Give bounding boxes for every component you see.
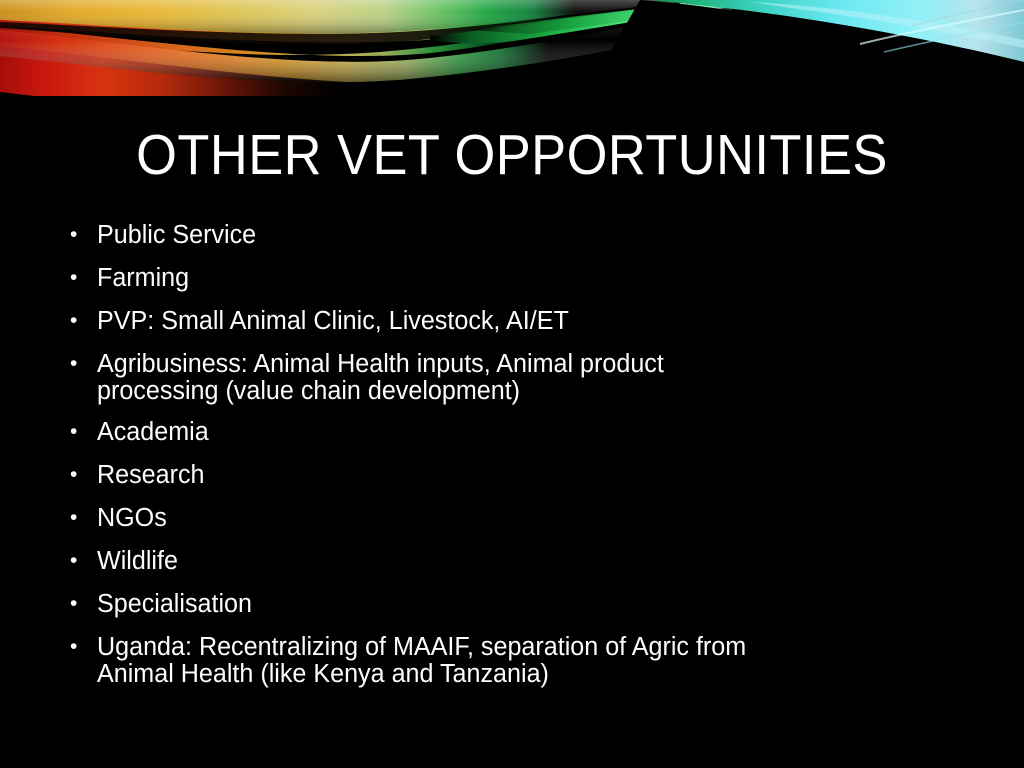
list-item-text: Wildlife	[97, 548, 953, 575]
list-item: • Public Service	[66, 222, 966, 249]
bullet-glyph-icon: •	[66, 591, 97, 617]
slide-bullet-list: • Public Service • Farming • PVP: Small …	[66, 222, 966, 702]
bullet-glyph-icon: •	[66, 419, 97, 445]
list-item: • NGOs	[66, 505, 966, 532]
list-item-text: NGOs	[97, 505, 953, 532]
bullet-glyph-icon: •	[66, 351, 97, 377]
list-item-text: Academia	[97, 419, 953, 446]
list-item: • Academia	[66, 419, 966, 446]
list-item-text: Farming	[97, 265, 953, 292]
list-item-text: Public Service	[97, 222, 953, 249]
list-item-text: PVP: Small Animal Clinic, Livestock, AI/…	[97, 308, 953, 335]
list-item: • Farming	[66, 265, 966, 292]
list-item-text: Research	[97, 462, 953, 489]
list-item: • Agribusiness: Animal Health inputs, An…	[66, 351, 966, 404]
presentation-slide: OTHER VET OPPORTUNITIES • Public Service…	[0, 0, 1024, 768]
list-item: • Wildlife	[66, 548, 966, 575]
bullet-glyph-icon: •	[66, 634, 97, 660]
bullet-glyph-icon: •	[66, 308, 97, 334]
bullet-glyph-icon: •	[66, 265, 97, 291]
list-item: • Research	[66, 462, 966, 489]
list-item-text: Specialisation	[97, 591, 953, 618]
bullet-glyph-icon: •	[66, 222, 97, 248]
decorative-wave-graphic	[0, 0, 1024, 140]
list-item-text: Uganda: Recentralizing of MAAIF, separat…	[97, 634, 953, 687]
slide-title: OTHER VET OPPORTUNITIES	[41, 126, 983, 184]
list-item-text: Agribusiness: Animal Health inputs, Anim…	[97, 351, 953, 404]
bullet-glyph-icon: •	[66, 505, 97, 531]
list-item: • Uganda: Recentralizing of MAAIF, separ…	[66, 634, 966, 687]
bullet-glyph-icon: •	[66, 462, 97, 488]
list-item: • PVP: Small Animal Clinic, Livestock, A…	[66, 308, 966, 335]
list-item: • Specialisation	[66, 591, 966, 618]
bullet-glyph-icon: •	[66, 548, 97, 574]
